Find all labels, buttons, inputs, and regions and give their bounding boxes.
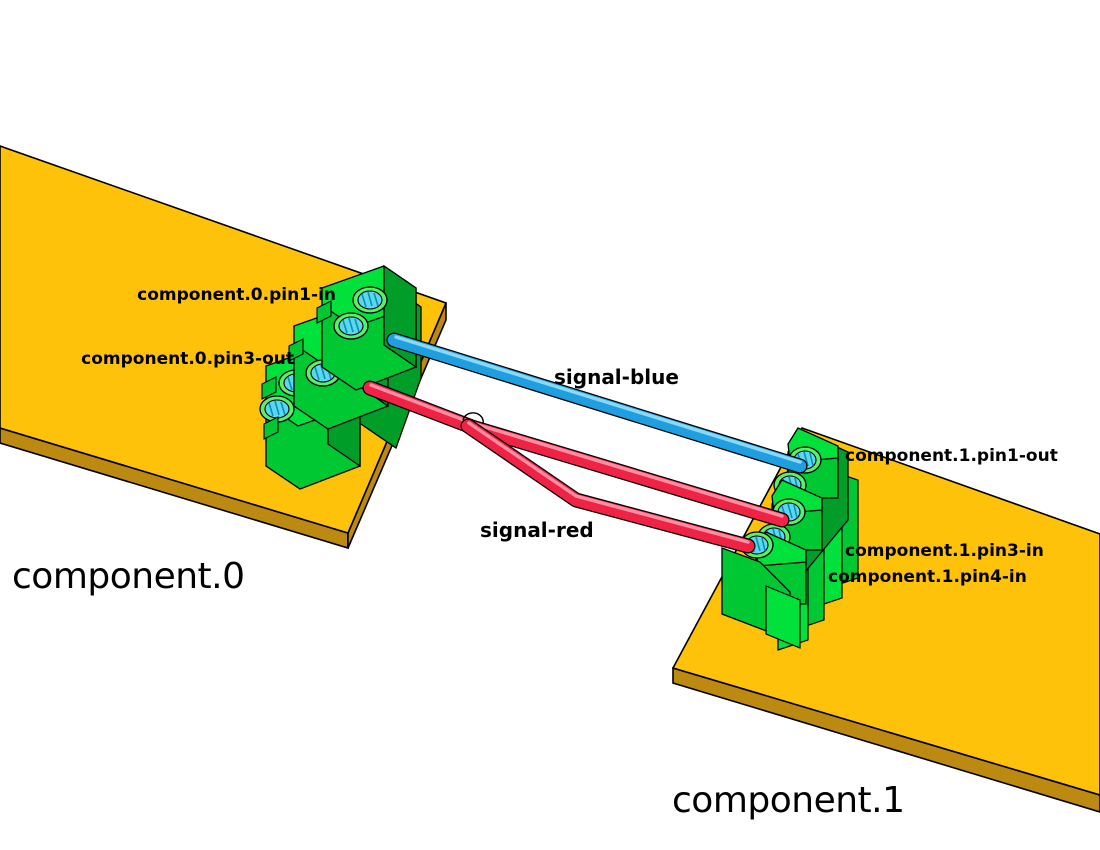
signal-label-red: signal-red	[480, 518, 594, 542]
pin-label-component-0-pin1-in: component.0.pin1-in	[137, 285, 336, 305]
board-title-component-0: component.0	[12, 556, 245, 597]
wire-signal-blue[interactable]	[394, 337, 800, 466]
terminal-block-0-a[interactable]	[322, 266, 416, 390]
pin-label-component-1-pin4-in: component.1.pin4-in	[828, 567, 1027, 587]
board-title-component-1: component.1	[672, 780, 905, 821]
pin-label-component-0-pin3-out: component.0.pin3-out	[81, 349, 294, 369]
wiring-diagram-scene: component.0.pin1-in component.0.pin3-out…	[0, 0, 1100, 850]
pin-label-component-1-pin1-out: component.1.pin1-out	[845, 446, 1058, 466]
diagram-canvas: component.0.pin1-in component.0.pin3-out…	[0, 0, 1100, 850]
pin-label-component-1-pin3-in: component.1.pin3-in	[845, 541, 1044, 561]
signal-label-blue: signal-blue	[554, 365, 679, 389]
